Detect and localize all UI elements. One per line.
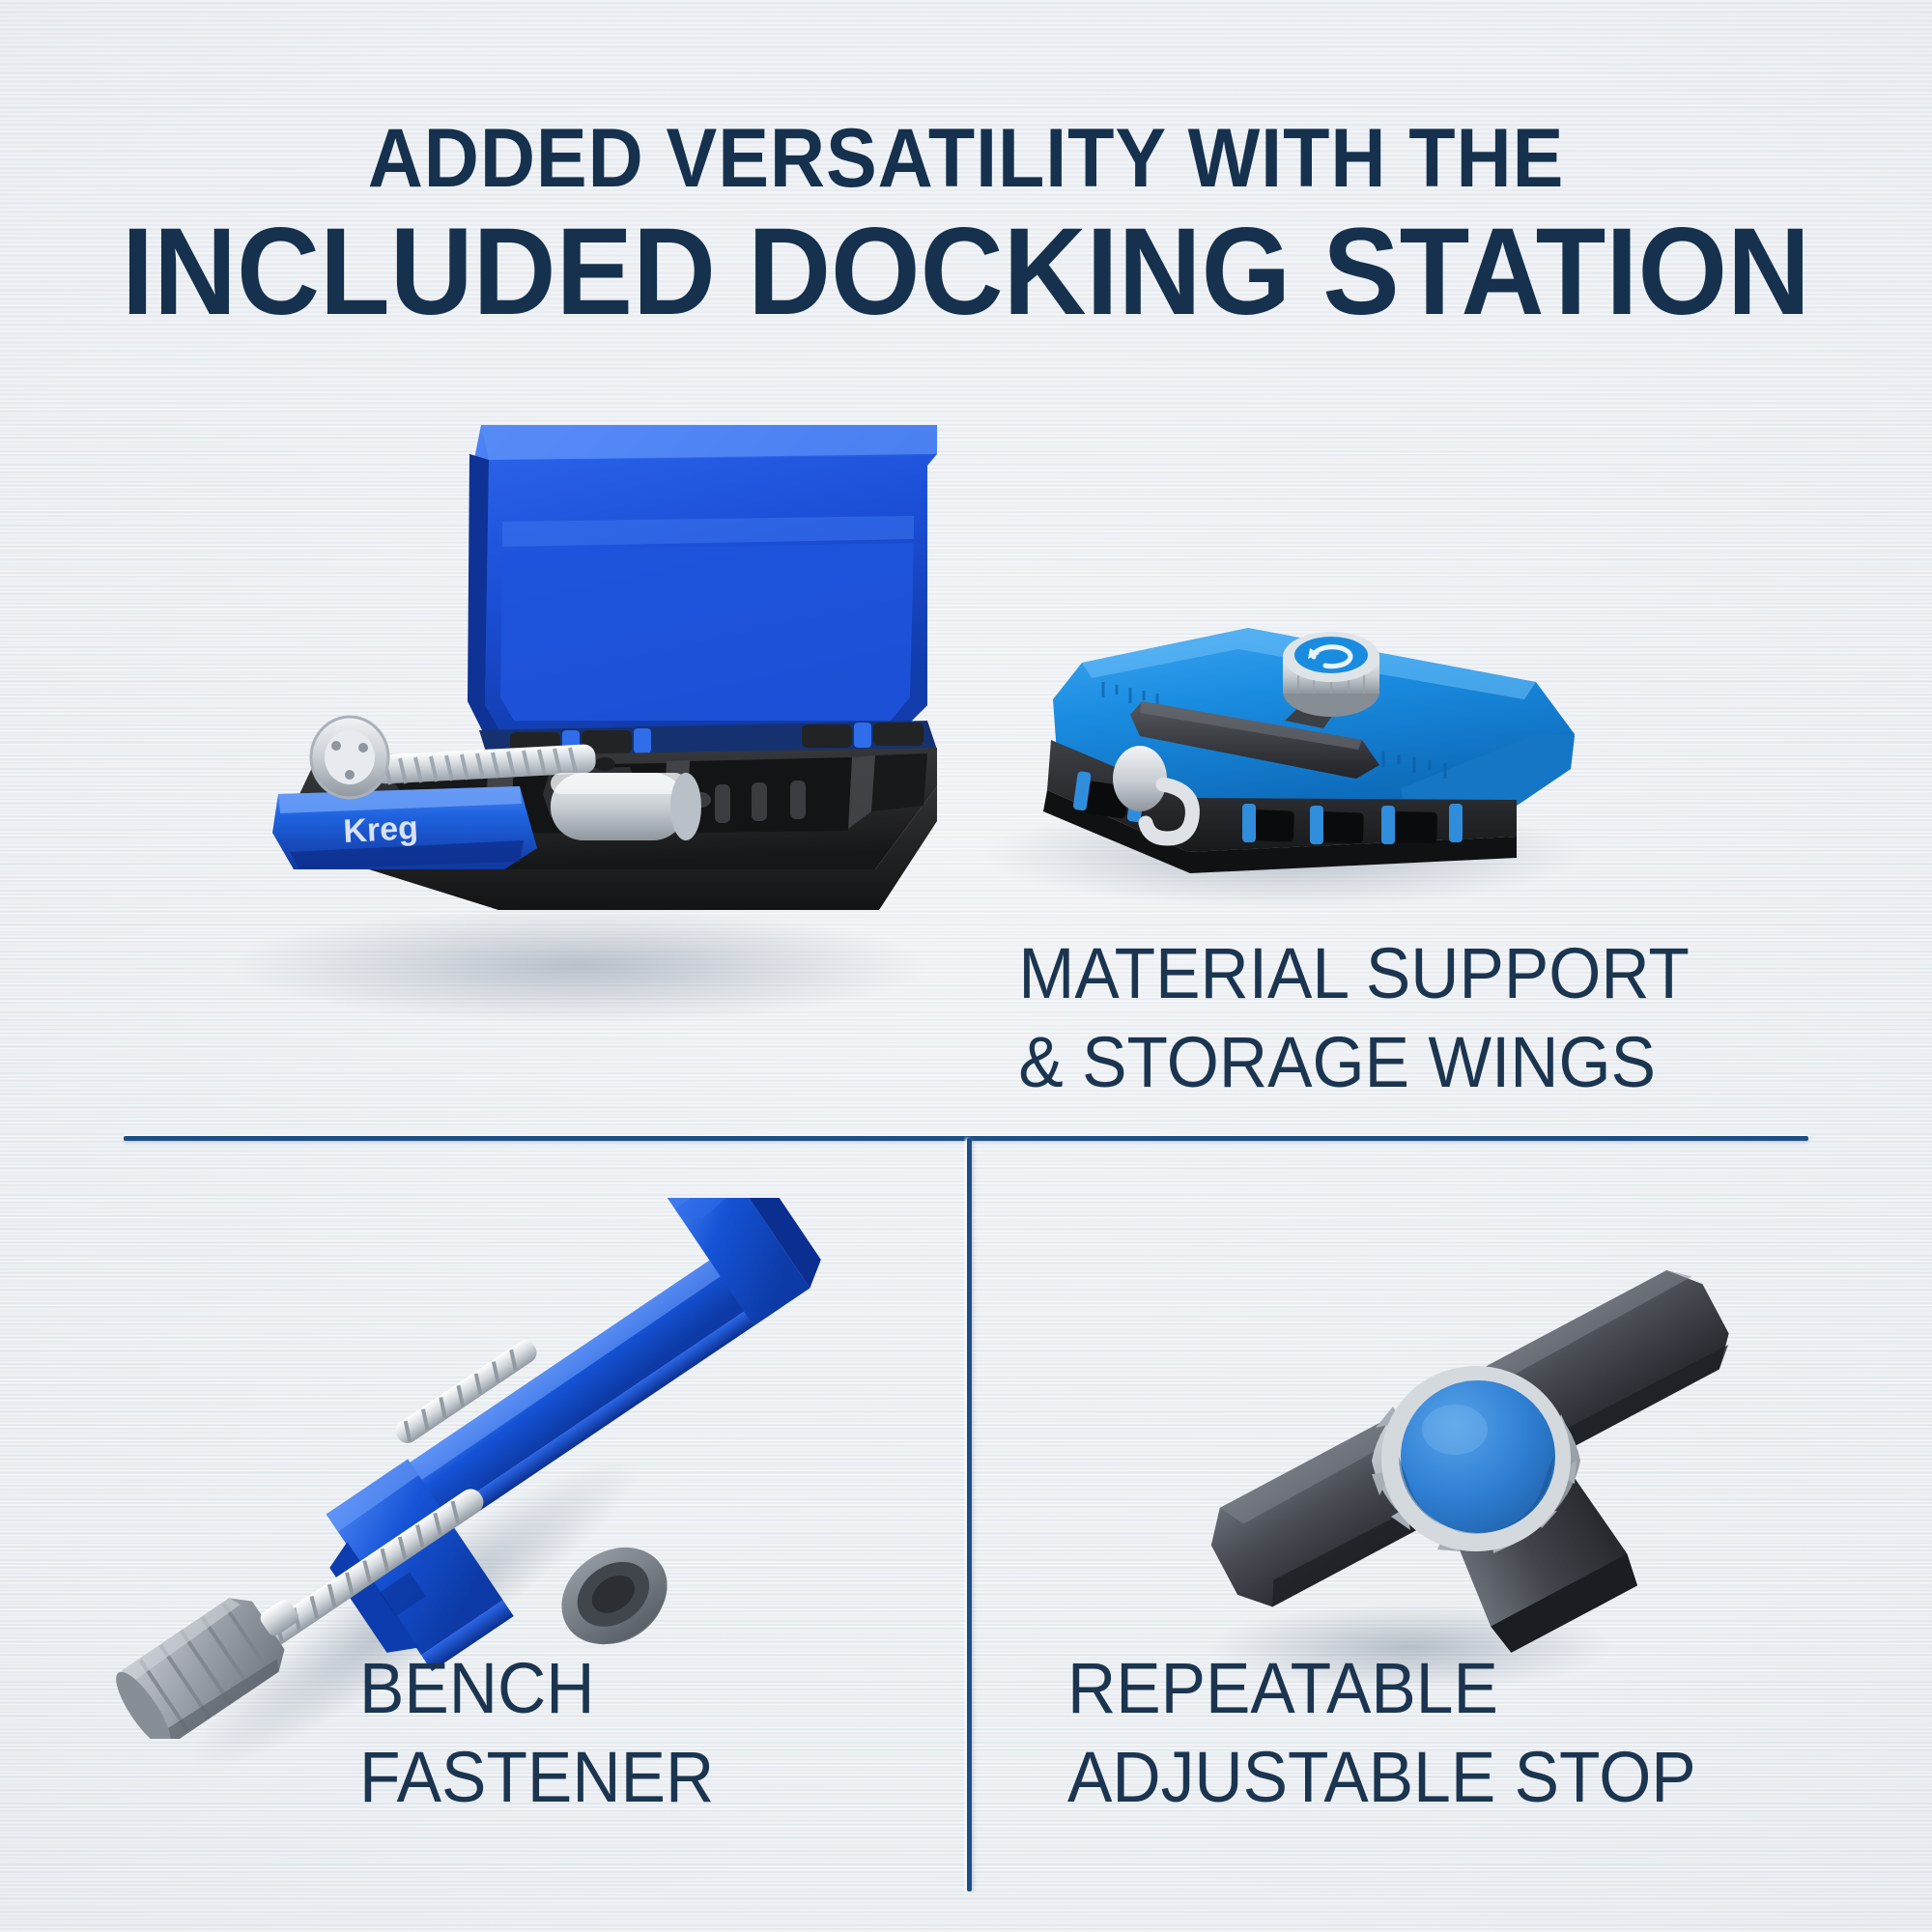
caption-bench-line-1: BENCH	[359, 1644, 714, 1733]
caption-wings-line-2: & STORAGE WINGS	[1018, 1018, 1645, 1107]
caption-bench-line-2: FASTENER	[359, 1733, 714, 1822]
caption-material-support-storage-wings: MATERIAL SUPPORT & STORAGE WINGS	[979, 929, 1645, 1107]
kreg-tool-case-illustration: Kreg	[261, 415, 956, 956]
svg-text:Kreg: Kreg	[342, 810, 418, 850]
headline-line-2: INCLUDED DOCKING STATION	[68, 209, 1864, 336]
headline-line-1: ADDED VERSATILITY WITH THE	[77, 114, 1855, 203]
caption-stop-line-2: ADJUSTABLE STOP	[1067, 1733, 1696, 1822]
caption-repeatable-adjustable-stop: REPEATABLE ADJUSTABLE STOP	[1067, 1644, 1736, 1822]
adjustable-stop-illustration	[1121, 1188, 1835, 1690]
infographic-poster: ADDED VERSATILITY WITH THE INCLUDED DOCK…	[0, 0, 1932, 1932]
vertical-divider	[967, 1138, 972, 1891]
caption-stop-line-1: REPEATABLE	[1067, 1644, 1696, 1733]
material-support-wing-illustration	[995, 599, 1613, 889]
caption-wings-line-1: MATERIAL SUPPORT	[1018, 929, 1645, 1018]
horizontal-divider	[124, 1136, 1808, 1141]
headline-block: ADDED VERSATILITY WITH THE INCLUDED DOCK…	[0, 114, 1932, 336]
caption-bench-fastener: BENCH FASTENER	[359, 1644, 737, 1822]
